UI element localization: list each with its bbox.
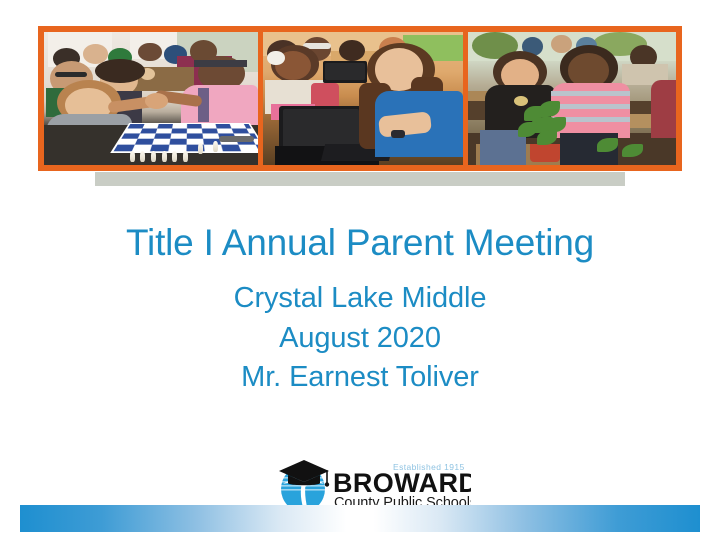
subtitle-date: August 2020 (0, 319, 720, 358)
photo-banner (38, 26, 682, 171)
subtitle-group: Crystal Lake Middle August 2020 Mr. Earn… (0, 279, 720, 397)
school-garden-photo (468, 32, 676, 165)
subtitle-school: Crystal Lake Middle (0, 279, 720, 318)
bottom-accent-bar (20, 505, 700, 532)
shadow-bar (95, 172, 625, 186)
logo-wordmark: BROWARD (333, 468, 471, 498)
subtitle-presenter: Mr. Earnest Toliver (0, 358, 720, 397)
computer-lab-photo (263, 32, 463, 165)
chess-club-photo (44, 32, 258, 165)
title-block: Title I Annual Parent Meeting Crystal La… (0, 222, 720, 398)
page-title: Title I Annual Parent Meeting (0, 222, 720, 263)
